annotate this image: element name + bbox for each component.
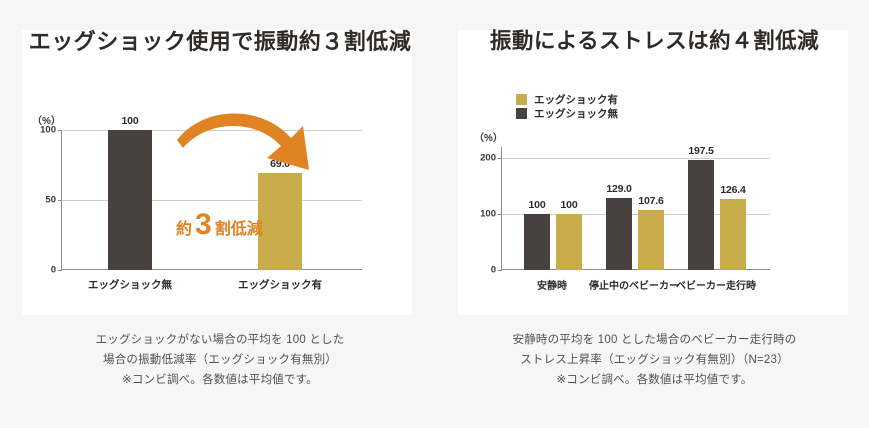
y-tick-label-0-right: 0 bbox=[491, 265, 496, 276]
plot-area-right: 200 100 0 100 100 安静時 129.0 107.6 停止中のベビ… bbox=[502, 147, 770, 270]
legend-item-eggshock-yes: エッグショック有 bbox=[516, 92, 618, 106]
callout-suffix: 割低減 bbox=[215, 215, 263, 239]
legend-label: エッグショック有 bbox=[534, 92, 618, 107]
caption-line: エッグショックがない場合の平均を 100 とした bbox=[0, 330, 440, 350]
bar-value-label: 129.0 bbox=[606, 183, 631, 195]
gridline-50-left bbox=[62, 200, 362, 201]
tick-mark-200-right bbox=[498, 158, 502, 159]
legend-swatch-icon bbox=[516, 108, 527, 119]
x-axis-line-left bbox=[62, 269, 362, 270]
bar-rest-eggshock-yes[interactable]: 100 安静時 bbox=[556, 214, 582, 270]
chart-legend: エッグショック有 エッグショック無 bbox=[516, 92, 618, 120]
y-tick-label-50-left: 50 bbox=[45, 195, 56, 206]
reduction-arrow-icon bbox=[175, 108, 325, 178]
tick-mark-100-left bbox=[58, 130, 62, 131]
y-tick-label-100-left: 100 bbox=[40, 125, 56, 136]
bar-value-label: 126.4 bbox=[720, 184, 745, 196]
bar-value-label: 197.5 bbox=[688, 145, 713, 157]
bar-value-label: 100 bbox=[561, 199, 578, 211]
legend-swatch-icon bbox=[516, 94, 527, 105]
y-tick-label-200-right: 200 bbox=[480, 153, 496, 164]
bar-value-label: 100 bbox=[122, 115, 139, 127]
y-axis-line-right bbox=[501, 147, 502, 270]
tick-mark-100-right bbox=[498, 214, 502, 215]
caption-line: ※コンビ調べ。各数値は平均値です。 bbox=[440, 370, 869, 390]
caption-line: 場合の振動低減率（エッグショック有無別） bbox=[0, 350, 440, 370]
legend-label: エッグショック無 bbox=[534, 106, 618, 121]
bar-rest-eggshock-none[interactable]: 100 bbox=[524, 214, 550, 270]
callout-number: 3 bbox=[195, 210, 212, 240]
caption-line: ※コンビ調べ。各数値は平均値です。 bbox=[0, 370, 440, 390]
bar-moving-stroller-eggshock-yes[interactable]: 126.4 ベビーカー走行時 bbox=[720, 199, 746, 270]
category-label: 安静時 bbox=[537, 277, 567, 292]
gridline-200-right bbox=[502, 158, 770, 159]
category-label: 停止中のベビーカー bbox=[589, 277, 679, 292]
page-title-left: エッグショック使用で振動約３割低減 bbox=[0, 24, 440, 56]
bar-moving-stroller-eggshock-none[interactable]: 197.5 bbox=[688, 160, 714, 270]
bar-stopped-stroller-eggshock-yes[interactable]: 107.6 停止中のベビーカー bbox=[638, 210, 664, 270]
y-tick-label-100-right: 100 bbox=[480, 209, 496, 220]
category-label: エッグショック無 bbox=[88, 277, 172, 292]
y-axis-unit-right: （%） bbox=[474, 129, 503, 144]
chart-caption-right: 安静時の平均を 100 とした場合のベビーカー走行時の ストレス上昇率（エッグシ… bbox=[440, 330, 869, 390]
bar-value-label: 100 bbox=[529, 199, 546, 211]
panel-vibration-reduction: エッグショック使用で振動約３割低減 （%） 100 50 0 100 エッグショ… bbox=[0, 0, 440, 428]
caption-line: ストレス上昇率（エッグショック有無別）（N=23） bbox=[440, 350, 869, 370]
caption-line: 安静時の平均を 100 とした場合のベビーカー走行時の bbox=[440, 330, 869, 350]
page-title-right: 振動によるストレスは約４割低減 bbox=[440, 24, 869, 55]
tick-mark-0-right bbox=[498, 270, 502, 271]
bar-value-label: 107.6 bbox=[638, 195, 663, 207]
tick-mark-0-left bbox=[58, 270, 62, 271]
callout-prefix: 約 bbox=[176, 215, 192, 239]
legend-item-eggshock-none: エッグショック無 bbox=[516, 106, 618, 120]
panel-stress-reduction: 振動によるストレスは約４割低減 エッグショック有 エッグショック無 （%） 20… bbox=[440, 0, 869, 428]
category-label: エッグショック有 bbox=[238, 277, 322, 292]
category-label: ベビーカー走行時 bbox=[676, 277, 756, 292]
reduction-callout-left: 約 3 割低減 bbox=[176, 210, 263, 240]
chart-caption-left: エッグショックがない場合の平均を 100 とした 場合の振動低減率（エッグショッ… bbox=[0, 330, 440, 390]
infographic-stage: エッグショック使用で振動約３割低減 （%） 100 50 0 100 エッグショ… bbox=[0, 0, 869, 428]
bar-eggshock-none[interactable]: 100 エッグショック無 bbox=[108, 130, 152, 270]
y-tick-label-0-left: 0 bbox=[51, 265, 56, 276]
tick-mark-50-left bbox=[58, 200, 62, 201]
bar-eggshock-yes[interactable]: 69.0 エッグショック有 bbox=[258, 173, 302, 270]
bar-stopped-stroller-eggshock-none[interactable]: 129.0 bbox=[606, 198, 632, 270]
